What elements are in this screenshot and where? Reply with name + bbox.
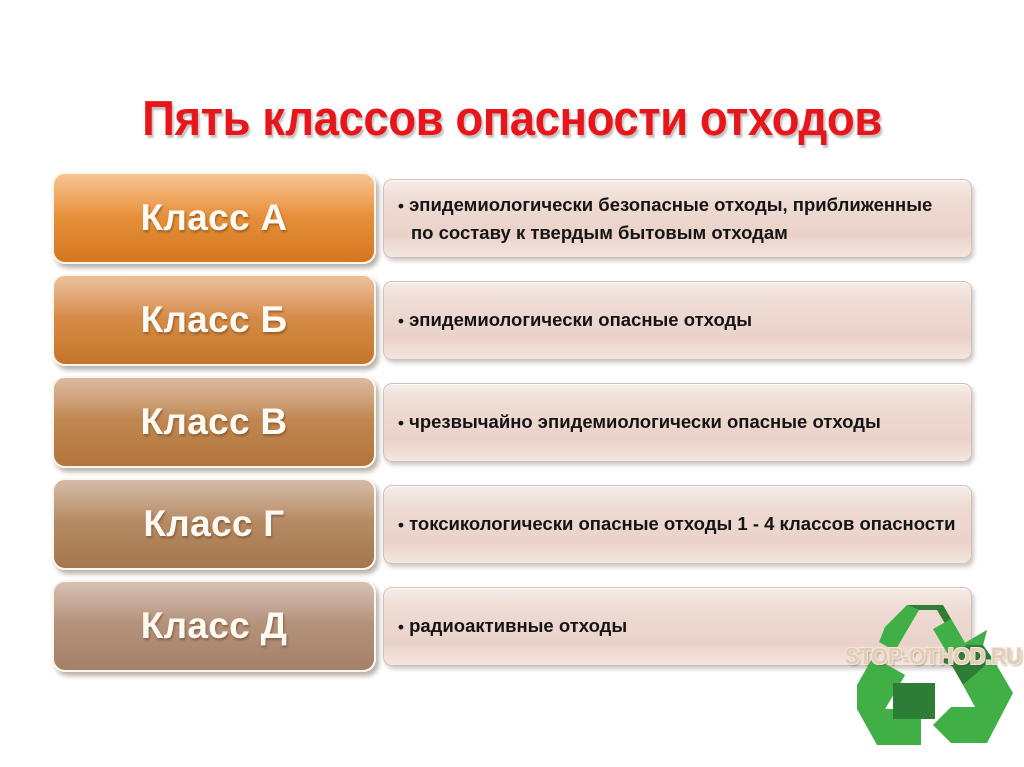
class-description-a: • эпидемиологически безопасные отходы, п… [383, 179, 972, 258]
class-description-text: • эпидемиологически опасные отходы [398, 306, 957, 335]
class-description-v: • чрезвычайно эпидемиологически опасные … [383, 383, 972, 462]
bullet-icon: • [398, 618, 404, 637]
class-pill-label: Класс Г [143, 504, 284, 544]
bullet-icon: • [398, 312, 404, 331]
class-pill-a[interactable]: Класс А [52, 172, 376, 264]
table-row: Класс А • эпидемиологически безопасные о… [0, 168, 1024, 270]
class-pill-label: Класс Д [141, 606, 288, 646]
class-pill-label: Класс В [141, 402, 288, 442]
bullet-icon: • [398, 516, 404, 535]
class-pill-b[interactable]: Класс Б [52, 274, 376, 366]
class-description-value: эпидемиологически опасные отходы [409, 309, 752, 330]
bullet-icon: • [398, 196, 404, 215]
class-pill-g[interactable]: Класс Г [52, 478, 376, 570]
class-description-d: • радиоактивные отходы [383, 587, 972, 666]
class-description-g: • токсикологически опасные отходы 1 - 4 … [383, 485, 972, 564]
class-pill-label: Класс Б [141, 300, 288, 340]
page-title: Пять классов опасности отходов [36, 91, 988, 147]
table-row: Класс Г • токсикологически опасные отход… [0, 474, 1024, 576]
class-pill-d[interactable]: Класс Д [52, 580, 376, 672]
class-pill-v[interactable]: Класс В [52, 376, 376, 468]
class-pill-label: Класс А [141, 198, 288, 238]
class-list: Класс А • эпидемиологически безопасные о… [0, 168, 1024, 678]
class-description-value: чрезвычайно эпидемиологически опасные от… [409, 411, 881, 432]
class-description-value: радиоактивные отходы [409, 615, 627, 636]
bullet-icon: • [398, 414, 404, 433]
class-description-text: • токсикологически опасные отходы 1 - 4 … [398, 510, 957, 539]
table-row: Класс Б • эпидемиологически опасные отхо… [0, 270, 1024, 372]
class-description-value: эпидемиологически безопасные отходы, при… [409, 194, 932, 244]
class-description-text: • радиоактивные отходы [398, 612, 957, 641]
table-row: Класс В • чрезвычайно эпидемиологически … [0, 372, 1024, 474]
table-row: Класс Д • радиоактивные отходы [0, 576, 1024, 678]
class-description-text: • чрезвычайно эпидемиологически опасные … [398, 408, 957, 437]
class-description-text: • эпидемиологически безопасные отходы, п… [398, 191, 957, 247]
class-description-value: токсикологически опасные отходы 1 - 4 кл… [409, 513, 955, 534]
class-description-b: • эпидемиологически опасные отходы [383, 281, 972, 360]
